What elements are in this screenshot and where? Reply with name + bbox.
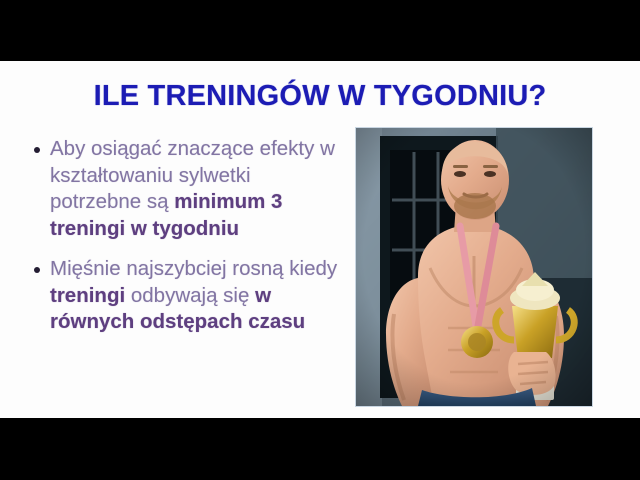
bullet-dot-icon <box>34 267 40 273</box>
letterbox-bar-bottom <box>0 418 640 480</box>
letterbox-bar-top <box>0 0 640 61</box>
list-item: Mięśnie najszybciej rosną kiedy treningi… <box>26 256 346 336</box>
bullet-dot-icon <box>34 147 40 153</box>
bullet-text-1: Aby osiągać znaczące efekty w kształtowa… <box>50 137 335 240</box>
page-title: ILE TRENINGÓW W TYGODNIU? <box>0 80 640 113</box>
bullet-run-plain: odbywają się <box>125 284 255 307</box>
bullet-text-2: Mięśnie najszybciej rosną kiedy treningi… <box>50 257 337 333</box>
bullet-run-strong: treningi <box>50 284 125 307</box>
list-item: Aby osiągać znaczące efekty w kształtowa… <box>26 136 346 242</box>
presentation-slide: ILE TRENINGÓW W TYGODNIU? Aby osiągać zn… <box>0 61 640 418</box>
bullet-list: Aby osiągać znaczące efekty w kształtowa… <box>26 136 346 350</box>
video-frame: ILE TRENINGÓW W TYGODNIU? Aby osiągać zn… <box>0 0 640 480</box>
bullet-run-plain: Mięśnie najszybciej rosną kiedy <box>50 257 337 280</box>
photo-bodybuilder <box>356 128 592 406</box>
photo-illustration <box>356 128 592 406</box>
